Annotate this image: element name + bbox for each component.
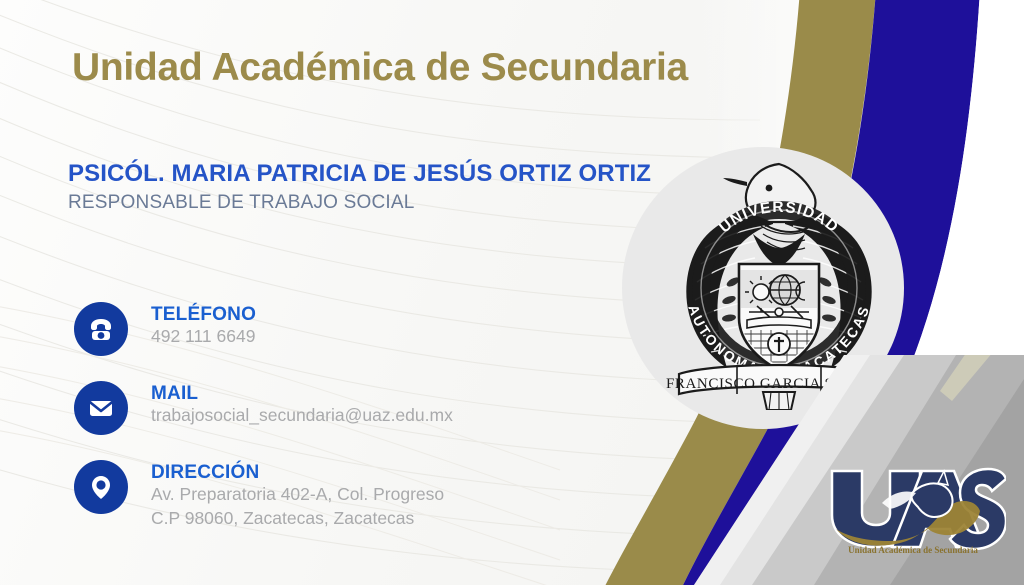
contact-text-mail: MAIL trabajosocial_secundaria@uaz.edu.mx: [151, 381, 453, 428]
contact-text-address: DIRECCIÓN Av. Preparatoria 402-A, Col. P…: [151, 460, 444, 530]
uas-logo-tagline: Unidad Académica de Secundaria: [848, 545, 978, 555]
contact-label-mail: MAIL: [151, 383, 453, 404]
contact-row-mail[interactable]: MAIL trabajosocial_secundaria@uaz.edu.mx: [74, 381, 453, 435]
phone-icon-glyph: [85, 313, 117, 345]
contact-label-address: DIRECCIÓN: [151, 462, 444, 483]
business-card: UNIVERSIDAD AUTONOMA DE ZACATECAS: [0, 0, 1024, 585]
phone-icon: [74, 302, 128, 356]
location-pin-icon: [74, 460, 128, 514]
contact-row-address[interactable]: DIRECCIÓN Av. Preparatoria 402-A, Col. P…: [74, 460, 444, 530]
page-title: Unidad Académica de Secundaria: [72, 46, 688, 90]
person-role: RESPONSABLE DE TRABAJO SOCIAL: [68, 192, 415, 214]
contact-label-phone: TELÉFONO: [151, 304, 256, 325]
uas-logo: Unidad Académica de Secundaria: [820, 459, 1006, 555]
contact-value-phone: 492 111 6649: [151, 325, 256, 348]
contact-text-phone: TELÉFONO 492 111 6649: [151, 302, 256, 349]
contact-row-phone[interactable]: TELÉFONO 492 111 6649: [74, 302, 256, 356]
contact-value-address-line2: C.P 98060, Zacatecas, Zacatecas: [151, 507, 444, 530]
person-name: PSICÓL. MARIA PATRICIA DE JESÚS ORTIZ OR…: [68, 160, 651, 188]
contact-value-address-line1: Av. Preparatoria 402-A, Col. Progreso: [151, 483, 444, 506]
envelope-icon-glyph: [85, 392, 117, 424]
location-pin-icon-glyph: [85, 471, 117, 503]
shield-medallion: [768, 333, 790, 355]
contact-value-mail: trabajosocial_secundaria@uaz.edu.mx: [151, 404, 453, 427]
envelope-icon: [74, 381, 128, 435]
